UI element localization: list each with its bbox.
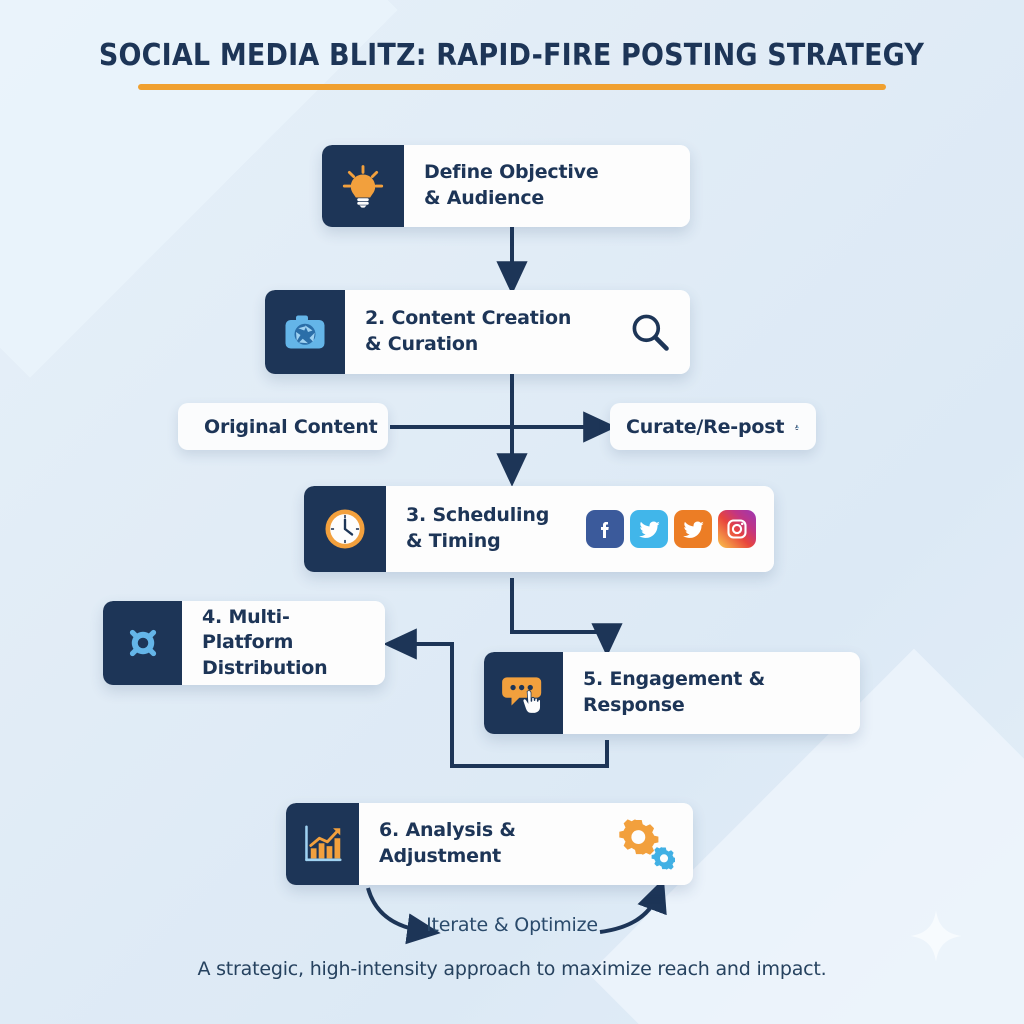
infographic-canvas: SOCIAL MEDIA BLITZ: RAPID-FIRE POSTING S…	[0, 0, 1024, 1024]
connector-step3-step5	[512, 578, 607, 640]
step-5-icon-container	[484, 652, 563, 734]
loop-label: Iterate & Optimize	[0, 914, 1024, 936]
camera-aperture-icon	[281, 308, 329, 356]
step-4-icon-container	[103, 601, 182, 685]
step-1-label-line1: Define Objective	[424, 161, 599, 183]
step-1-label: Define Objective & Audience	[424, 160, 599, 211]
step-card-define-objective[interactable]: Define Objective & Audience	[322, 145, 690, 227]
step-4-label-line2: Distribution	[202, 656, 353, 682]
step-3-label-line1: 3. Scheduling	[406, 504, 549, 526]
magnifier-icon[interactable]	[628, 310, 672, 354]
step-1-icon-container	[322, 145, 404, 227]
step-card-content-creation[interactable]: 2. Content Creation & Curation	[265, 290, 690, 374]
step-4-label: 4. Multi-Platform Distribution	[202, 605, 353, 682]
step-3-social-icons	[586, 510, 756, 548]
title-underline-rule	[138, 84, 886, 90]
network-share-icon	[119, 619, 167, 667]
step-3-label: 3. Scheduling & Timing	[406, 503, 549, 554]
step-2-icon-container	[265, 290, 345, 374]
branch-card-original-content[interactable]: Original Content	[178, 403, 388, 450]
step-5-label-line1: 5. Engagement & Response	[583, 668, 765, 716]
lightbulb-icon	[340, 163, 386, 209]
step-card-scheduling-timing[interactable]: 3. Scheduling & Timing	[304, 486, 774, 572]
step-6-label-line1: 6. Analysis & Adjustment	[379, 819, 516, 867]
step-2-label-line1: 2. Content Creation	[365, 307, 571, 329]
step-1-label-line2: & Audience	[424, 186, 599, 212]
page-title-wrapper: SOCIAL MEDIA BLITZ: RAPID-FIRE POSTING S…	[0, 38, 1024, 73]
step-3-label-line2: & Timing	[406, 529, 549, 555]
step-6-icon-container	[286, 803, 359, 885]
step-6-body: 6. Analysis & Adjustment	[359, 803, 693, 885]
step-1-body: Define Objective & Audience	[404, 145, 690, 227]
twitter-orange-icon[interactable]	[674, 510, 712, 548]
gears-icon[interactable]	[619, 818, 675, 870]
branch-curate-label: Curate/Re-post	[626, 416, 784, 438]
twitter-icon[interactable]	[630, 510, 668, 548]
step-6-extras	[619, 818, 675, 870]
footer-caption: A strategic, high-intensity approach to …	[0, 958, 1024, 980]
step-2-body: 2. Content Creation & Curation	[345, 290, 690, 374]
clock-icon	[320, 504, 370, 554]
instagram-icon[interactable]	[718, 510, 756, 548]
step-4-body: 4. Multi-Platform Distribution	[182, 601, 385, 685]
page-title: SOCIAL MEDIA BLITZ: RAPID-FIRE POSTING S…	[99, 38, 924, 73]
step-2-label: 2. Content Creation & Curation	[365, 306, 571, 357]
step-card-multi-platform-distribution[interactable]: 4. Multi-Platform Distribution	[103, 601, 385, 685]
step-5-body: 5. Engagement & Response	[563, 652, 860, 734]
facebook-icon[interactable]	[586, 510, 624, 548]
recycle-icon	[794, 413, 800, 441]
step-3-body: 3. Scheduling & Timing	[386, 486, 774, 572]
step-6-label: 6. Analysis & Adjustment	[379, 818, 605, 869]
step-2-label-line2: & Curation	[365, 332, 571, 358]
branch-original-label: Original Content	[204, 416, 378, 438]
step-2-extras	[628, 310, 672, 354]
step-4-label-line1: 4. Multi-Platform	[202, 606, 293, 654]
bar-chart-growth-icon	[300, 821, 346, 867]
step-card-analysis-adjustment[interactable]: 6. Analysis & Adjustment	[286, 803, 693, 885]
step-3-icon-container	[304, 486, 386, 572]
step-card-engagement-response[interactable]: 5. Engagement & Response	[484, 652, 860, 734]
step-5-label: 5. Engagement & Response	[583, 667, 828, 718]
chat-bubble-click-icon	[499, 668, 549, 718]
branch-card-curate-repost[interactable]: Curate/Re-post	[610, 403, 816, 450]
